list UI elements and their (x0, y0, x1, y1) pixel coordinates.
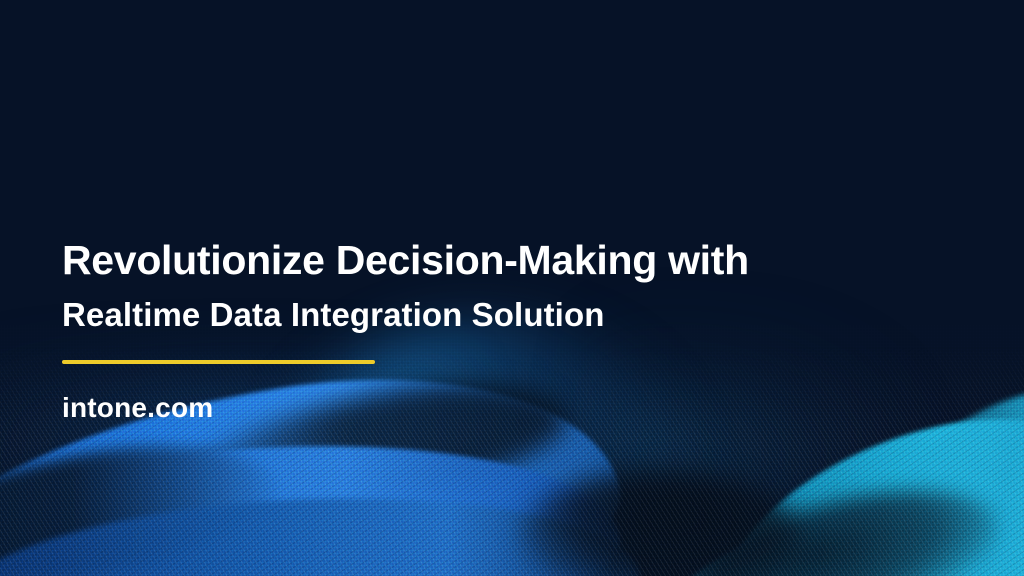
headline-secondary: Realtime Data Integration Solution (62, 296, 922, 335)
wave-trough-left (0, 419, 287, 576)
blue-wave-ribbon-2 (0, 417, 628, 576)
yellow-underline (62, 360, 375, 364)
website-url[interactable]: intone.com (62, 392, 922, 424)
cyan-wave-notch (690, 463, 1010, 576)
center-dark-gap (520, 470, 800, 576)
blue-wave-ribbon-3 (0, 482, 644, 576)
headline-primary: Revolutionize Decision-Making with (62, 236, 922, 284)
marketing-banner: Revolutionize Decision-Making with Realt… (0, 0, 1024, 576)
cyan-wave-ribbon-2 (629, 470, 1024, 576)
banner-content: Revolutionize Decision-Making with Realt… (62, 236, 922, 424)
